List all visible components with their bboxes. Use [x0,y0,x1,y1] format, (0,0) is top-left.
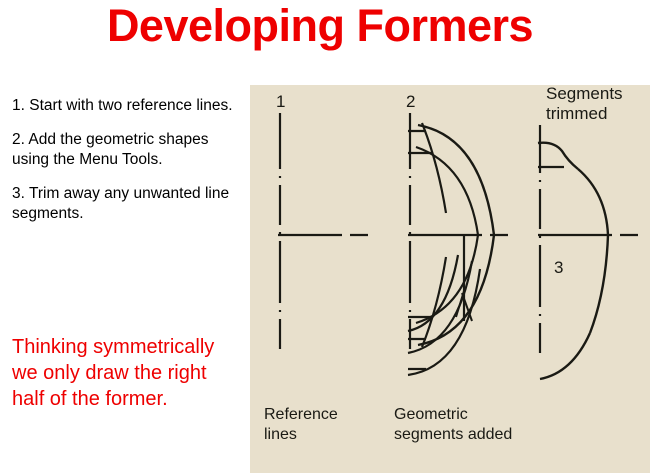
page-title: Developing Formers [0,0,640,54]
profile-outer-upper [578,169,608,235]
sweep-arc-3 [408,255,458,331]
figure-1-number: 1 [276,92,285,111]
former-development-diagram: 1 Reference lines [250,85,650,473]
figure-3-segments-trimmed: 3 Segments trimmed [538,85,638,383]
instruction-step-3: 3. Trim away any unwanted line segments. [12,184,242,224]
profile-outer-lower [590,235,608,333]
figure-2-caption-line1: Geometric [394,406,468,423]
instruction-step-2: 2. Add the geometric shapes using the Me… [12,130,242,170]
figure-1-caption-line1: Reference [264,406,338,423]
figure-2-geometric-segments: 2 Geometric segments added [394,92,512,443]
instruction-step-1: 1. Start with two reference lines. [12,96,242,116]
figure-1-caption-line2: lines [264,426,297,443]
figure-3-note-line1: Segments [546,85,623,103]
figure-1-reference-lines: 1 Reference lines [264,92,368,443]
nose-arc-upper [422,123,446,213]
diagram-panel: 1 Reference lines [250,85,650,473]
figure-2-caption-line2: segments added [394,426,512,443]
figure-3-number: 3 [554,258,563,277]
instruction-list: 1. Start with two reference lines. 2. Ad… [12,96,242,224]
figure-2-number: 2 [406,92,415,111]
profile-nose [538,143,578,169]
profile-tail [540,333,590,379]
figure-3-note-line2: trimmed [546,104,607,123]
symmetry-note: Thinking symmetrically we only draw the … [12,334,237,412]
